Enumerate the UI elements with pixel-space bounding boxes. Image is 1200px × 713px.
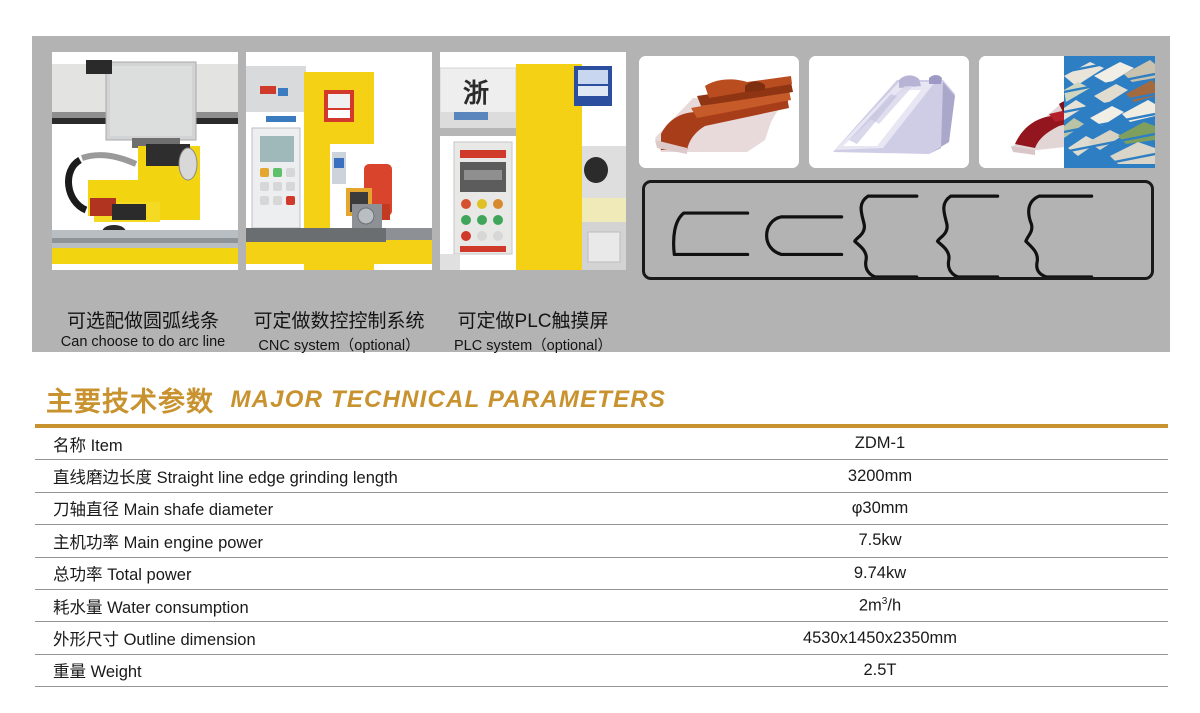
machine-caption-cn-3: 可定做PLC触摸屏 [440,306,626,333]
parameter-value: 9.74kw [735,564,1025,583]
red-wood-moulding-image [639,56,799,168]
table-row: 总功率 Total power9.74kw [35,558,1168,590]
product-thumbnail-blue-stone-slabs [1064,56,1155,168]
parameter-label: 主机功率 Main engine power [53,529,263,553]
machine-photo-cnc-system [246,52,432,270]
machine-photo-block-cnc: 可定做数控控制系统 CNC system（optional） [246,52,432,286]
parameter-value: 3200mm [735,467,1025,486]
section-heading-cn: 主要技术参数 [46,387,214,417]
parameter-label: 直线磨边长度 Straight line edge grinding lengt… [53,464,398,488]
table-body: 名称 ItemZDM-1直线磨边长度 Straight line edge gr… [35,428,1168,687]
machine-caption-cn-1: 可选配做圆弧线条 [50,306,236,333]
table-row: 重量 Weight2.5T [35,655,1168,687]
plc-touch-screen-image: 浙 [440,52,626,270]
section-heading: 主要技术参数 MAJOR TECHNICAL PARAMETERS [46,380,666,416]
parameter-value: 4530x1450x2350mm [735,629,1025,648]
table-row: 名称 ItemZDM-1 [35,428,1168,460]
table-row: 外形尺寸 Outline dimension4530x1450x2350mm [35,622,1168,654]
machine-photo-block-plc: 浙 [440,52,626,286]
machine-caption-en-1: Can choose to do arc line [50,334,236,350]
machine-caption-en-2: CNC system（optional） [246,334,432,355]
profile-shapes-diagram [645,183,1151,277]
ogee-double-profile [855,196,917,277]
svg-text:浙: 浙 [463,79,489,109]
table-row: 耗水量 Water consumption2m3/h [35,590,1168,622]
top-media-panel: 可选配做圆弧线条 Can choose to do arc line [32,36,1170,352]
parameters-table: 名称 ItemZDM-1直线磨边长度 Straight line edge gr… [35,424,1168,687]
parameter-value: 7.5kw [735,531,1025,550]
parameter-value: 2m3/h [735,596,1025,616]
cnc-system-machine-image [246,52,432,270]
section-heading-en: MAJOR TECHNICAL PARAMETERS [230,386,666,413]
ogee-single-profile [1026,196,1092,277]
parameter-value: φ30mm [735,499,1025,518]
profile-shapes-box [642,180,1154,280]
blue-stone-slabs-image [1064,56,1155,168]
parameter-label: 外形尺寸 Outline dimension [53,626,256,650]
parameter-value: 2.5T [735,661,1025,680]
quarter-round-profile [674,213,748,254]
white-marble-moulding-image [809,56,969,168]
machine-photo-arc-line [52,52,238,270]
parameter-label: 重量 Weight [53,658,142,682]
parameter-value: ZDM-1 [735,434,1025,453]
machine-photo-block-arc-line: 可选配做圆弧线条 Can choose to do arc line [52,52,238,286]
product-thumbnail-red-wood-moulding [639,56,799,168]
parameter-label: 总功率 Total power [53,561,191,585]
parameter-label: 刀轴直径 Main shafe diameter [53,496,273,520]
machine-caption-en-3: PLC system（optional） [440,334,626,355]
table-row: 刀轴直径 Main shafe diameterφ30mm [35,493,1168,525]
table-row: 主机功率 Main engine power7.5kw [35,525,1168,557]
parameter-label: 名称 Item [53,432,123,456]
arc-line-machine-image [52,52,238,270]
machine-caption-cn-2: 可定做数控控制系统 [246,306,432,333]
product-thumbnail-white-marble-moulding [809,56,969,168]
ogee-waterfall-profile [937,196,997,277]
machine-photo-plc-screen: 浙 [440,52,626,270]
bullnose-profile [767,217,842,255]
table-row: 直线磨边长度 Straight line edge grinding lengt… [35,460,1168,492]
parameter-label: 耗水量 Water consumption [53,594,249,618]
